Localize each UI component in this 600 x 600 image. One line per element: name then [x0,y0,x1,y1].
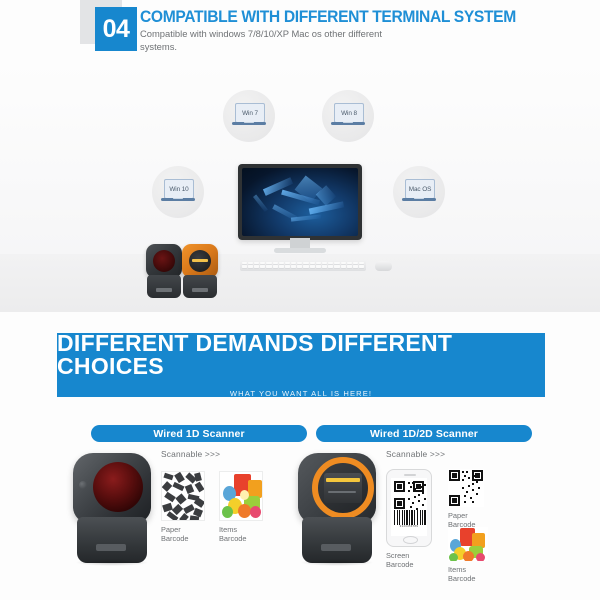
laptop-icon: Win 10 [161,179,195,205]
product-title-pill: Wired 1D Scanner [91,425,307,442]
product-card-wired-1d-2d[interactable]: Wired 1D/2D Scanner Scannable >>> [290,425,558,585]
screen-barcode-phone-thumb: 0123456789 [386,469,432,547]
black-barcode-scanner [146,244,182,298]
orange-omnidirectional-scanner [298,453,376,563]
paper-barcode-thumb [161,471,205,521]
os-badge-label: Mac OS [409,186,431,193]
scannable-item: Items Barcode [219,471,265,543]
orange-barcode-scanner [182,244,218,298]
scannable-item: Paper Barcode [448,469,484,529]
product-title: Wired 1D Scanner [153,428,244,440]
scannable-label: Scannable >>> [386,449,445,459]
banner-headline: DIFFERENT DEMANDS DIFFERENT CHOICES [57,332,545,378]
os-badge-label: Win 8 [341,110,357,117]
os-badge-win8: Win 8 [322,90,374,142]
black-omnidirectional-scanner [73,453,151,563]
keyboard [240,260,366,271]
scannable-item: Paper Barcode [161,471,207,543]
promo-banner: DIFFERENT DEMANDS DIFFERENT CHOICES WHAT… [57,333,545,397]
section-header: 04 COMPATIBLE WITH DIFFERENT TERMINAL SY… [0,0,600,68]
scannable-item: Items Barcode [448,527,488,583]
os-badge-label: Win 7 [242,110,258,117]
scannable-caption: Items Barcode [448,565,488,583]
compatibility-scene: Win 7 Win 8 Win 10 Mac OS [0,62,600,312]
banner-tagline: WHAT YOU WANT ALL IS HERE! [230,389,372,398]
os-badge-win10: Win 10 [152,166,204,218]
items-barcode-thumb [219,471,263,521]
qr-barcode-thumb [448,469,484,507]
mouse [375,261,392,271]
section-number-badge: 04 [95,7,137,51]
product-marketing-page: 04 COMPATIBLE WITH DIFFERENT TERMINAL SY… [0,0,600,600]
section-number: 04 [103,17,130,42]
desktop-monitor [238,164,362,246]
section-description: Compatible with windows 7/8/10/XP Mac os… [140,28,400,53]
scannable-caption: Paper Barcode [161,525,207,543]
scannable-caption: Screen Barcode [386,551,432,569]
scannable-caption: Items Barcode [219,525,265,543]
section-title: COMPATIBLE WITH DIFFERENT TERMINAL SYSTE… [140,8,516,25]
laptop-icon: Win 8 [331,103,365,129]
barcode-strip: 0123456789 [394,510,424,527]
scannable-item: 0123456789 Screen Barcode [386,469,432,569]
laptop-icon: Win 7 [232,103,266,129]
items-barcode-thumb [448,527,488,561]
scannable-label: Scannable >>> [161,449,220,459]
product-cards: Wired 1D Scanner Scannable >>> [0,425,600,585]
product-title-pill: Wired 1D/2D Scanner [316,425,532,442]
os-badge-win7: Win 7 [223,90,275,142]
product-title: Wired 1D/2D Scanner [370,428,478,440]
os-badge-macos: Mac OS [393,166,445,218]
laptop-icon: Mac OS [402,179,436,205]
monitor-screen [242,168,358,236]
os-badge-label: Win 10 [169,186,188,193]
